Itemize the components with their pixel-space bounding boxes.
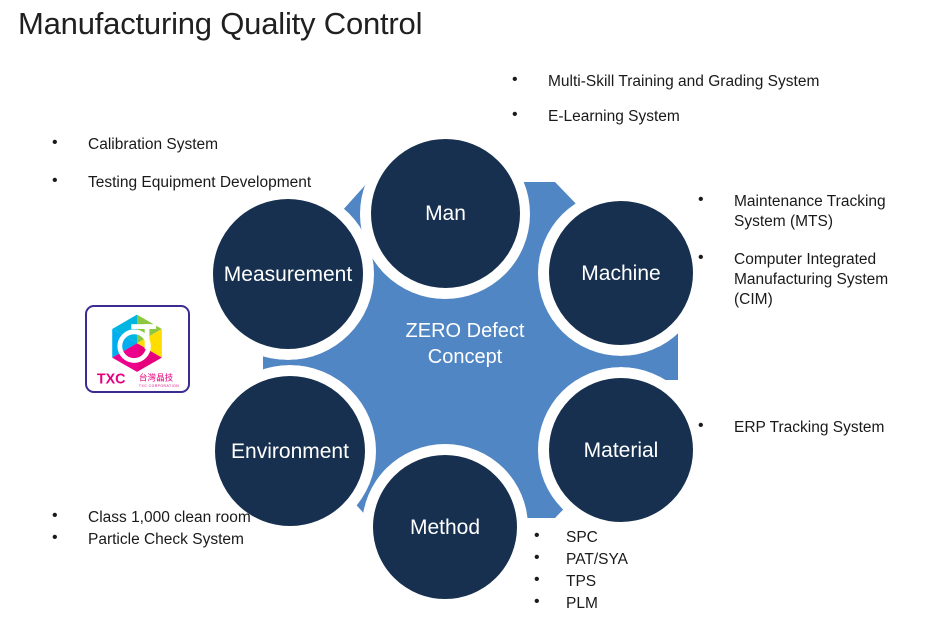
list-item: Maintenance Tracking System (MTS) xyxy=(694,192,924,232)
list-item: PAT/SYA xyxy=(530,550,740,570)
txc-logo: TXC 台灣晶技 TXC CORPORATION xyxy=(85,305,190,393)
list-item: TPS xyxy=(530,572,740,592)
bullets-environment: Class 1,000 clean room Particle Check Sy… xyxy=(48,508,348,552)
node-method-label: Method xyxy=(410,517,480,538)
bullets-man: Multi-Skill Training and Grading System … xyxy=(508,72,868,127)
txc-wordmark: TXC xyxy=(97,371,126,387)
node-measurement-label: Measurement xyxy=(224,264,352,285)
list-item: SPC xyxy=(530,528,740,548)
txc-subtext-cjk: 台灣晶技 xyxy=(139,372,174,384)
node-method[interactable]: Method xyxy=(370,452,520,602)
node-environment[interactable]: Environment xyxy=(212,373,368,529)
list-item: Class 1,000 clean room xyxy=(48,508,348,528)
node-material-label: Material xyxy=(584,440,659,461)
list-item: PLM xyxy=(530,594,740,614)
list-item: E-Learning System xyxy=(508,107,868,127)
node-material[interactable]: Material xyxy=(546,375,696,525)
node-environment-label: Environment xyxy=(231,441,349,462)
bullets-measurement: Calibration System Testing Equipment Dev… xyxy=(48,135,338,211)
node-measurement[interactable]: Measurement xyxy=(210,196,366,352)
bullets-machine: Maintenance Tracking System (MTS) Comput… xyxy=(694,192,924,328)
txc-subtext-latin: TXC CORPORATION xyxy=(139,384,179,388)
list-item: Computer Integrated Manufacturing System… xyxy=(694,250,924,310)
list-item: ERP Tracking System xyxy=(694,418,931,438)
list-item: Testing Equipment Development xyxy=(48,173,338,193)
list-item: Particle Check System xyxy=(48,530,348,550)
list-item: Calibration System xyxy=(48,135,338,155)
node-man-label: Man xyxy=(425,203,466,224)
bullets-method: SPC PAT/SYA TPS PLM xyxy=(530,528,740,616)
list-item: Multi-Skill Training and Grading System xyxy=(508,72,868,92)
node-machine[interactable]: Machine xyxy=(546,198,696,348)
node-man[interactable]: Man xyxy=(368,136,523,291)
node-machine-label: Machine xyxy=(581,263,660,284)
bullets-material: ERP Tracking System xyxy=(694,418,931,438)
